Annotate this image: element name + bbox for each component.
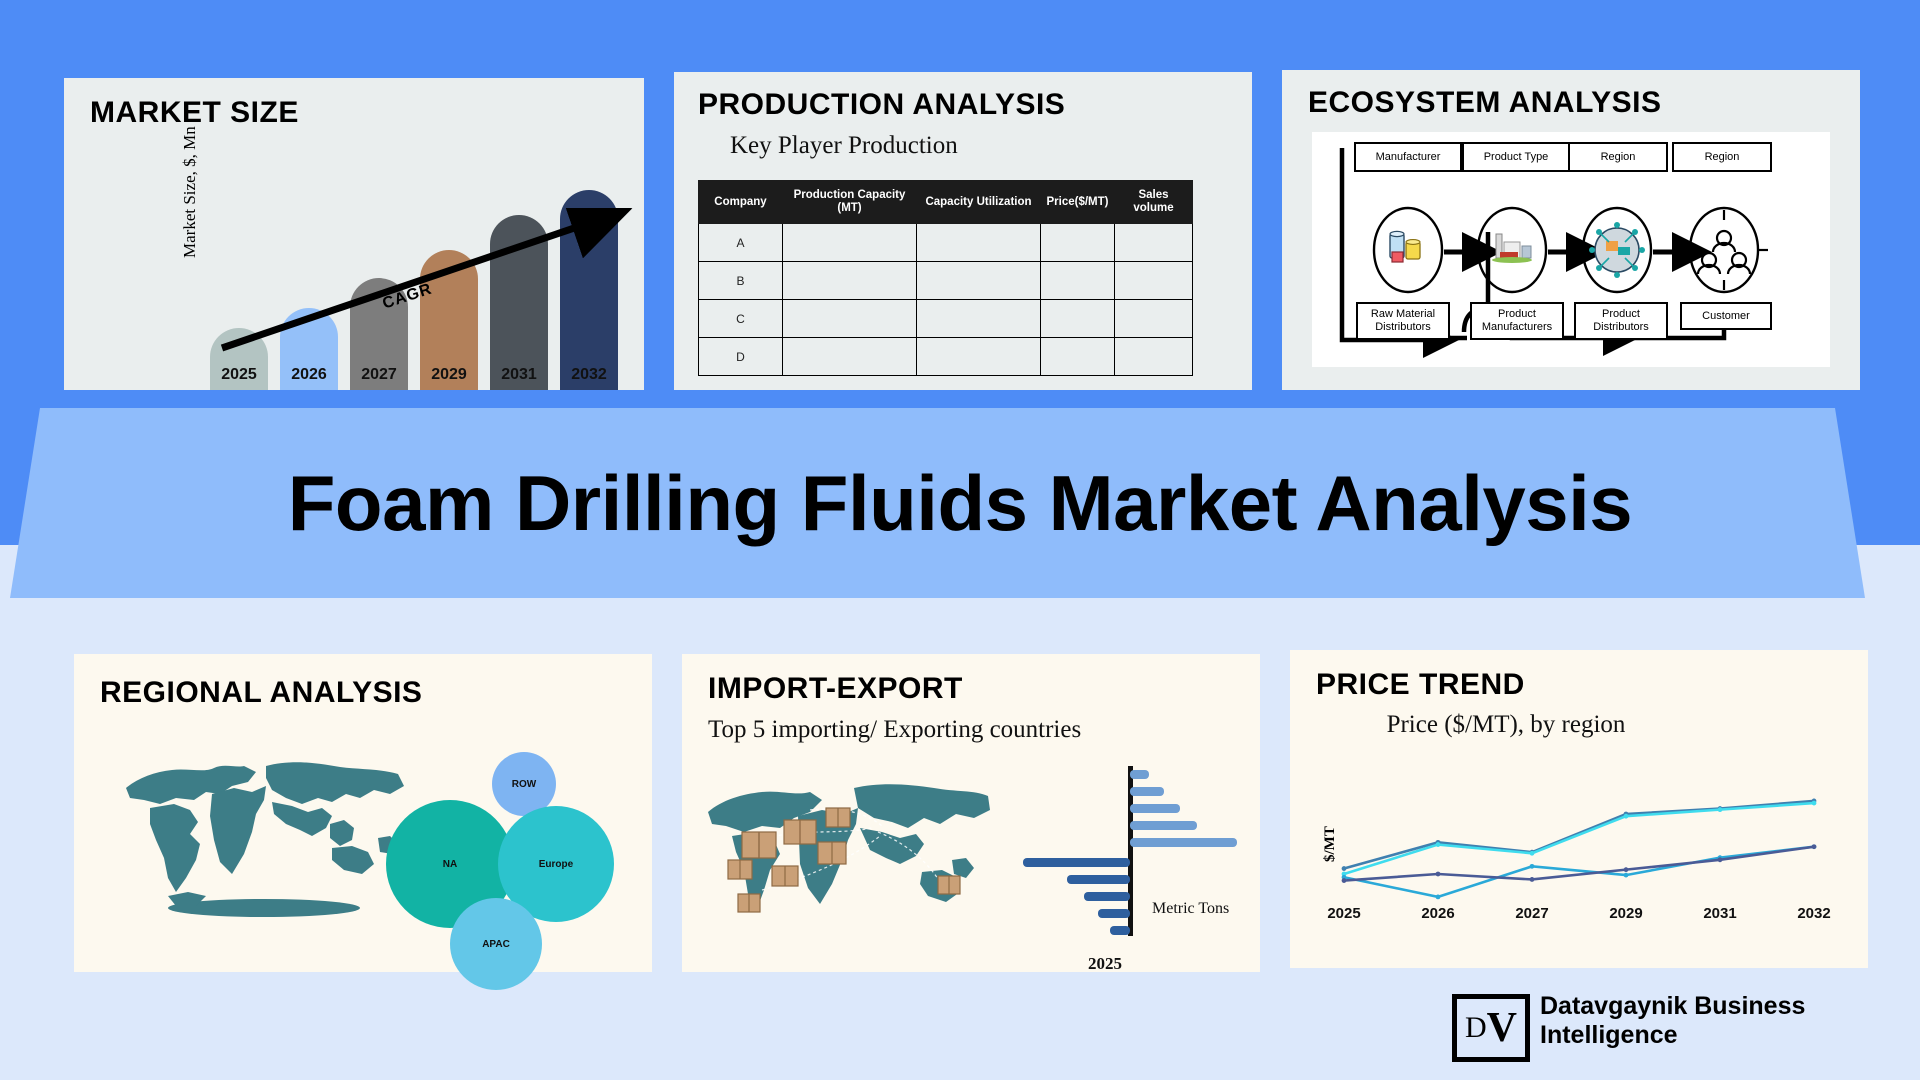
import-bar [1130, 821, 1197, 830]
table-row: A [699, 224, 1193, 262]
market-size-bar: 2026 [280, 308, 338, 390]
price-trend-data-point [1718, 857, 1723, 862]
ecosystem-bottom-box: Customer [1680, 302, 1772, 330]
price-trend-x-tick: 2026 [1421, 905, 1454, 922]
price-trend-data-point [1530, 864, 1535, 869]
bubble-label: ROW [512, 779, 536, 790]
ecosystem-top-box: Region [1568, 142, 1668, 172]
market-size-y-axis-label: Market Size, $, Mn [180, 126, 200, 258]
market-size-bar-label: 2026 [280, 366, 338, 384]
table-cell [783, 338, 917, 376]
price-trend-series-line [1344, 803, 1814, 874]
table-column-header: Sales volume [1115, 181, 1193, 224]
table-row: B [699, 262, 1193, 300]
price-trend-data-point [1530, 877, 1535, 882]
table-cell [783, 262, 917, 300]
bubble-label: Europe [539, 859, 573, 870]
price-trend-data-point [1342, 878, 1347, 883]
market-size-bar-label: 2029 [420, 366, 478, 384]
ecosystem-analysis-card: ECOSYSTEM ANALYSIS [1282, 70, 1860, 390]
market-size-bar: 2025 [210, 328, 268, 390]
price-trend-card: PRICE TREND Price ($/MT), by region $/MT… [1290, 650, 1868, 968]
table-cell: A [699, 224, 783, 262]
table-column-header: Price($/MT) [1041, 181, 1115, 224]
ecosystem-bottom-box: Product Manufacturers [1470, 302, 1564, 340]
ecosystem-top-box: Product Type [1462, 142, 1570, 172]
export-bar [1023, 858, 1130, 867]
market-size-bar: 2029 [420, 250, 478, 390]
price-trend-data-point [1718, 807, 1723, 812]
market-size-title: MARKET SIZE [90, 96, 299, 130]
table-cell [917, 338, 1041, 376]
table-cell [1115, 224, 1193, 262]
price-trend-x-axis-labels: 202520262027202920312032 [1330, 905, 1850, 929]
price-trend-title: PRICE TREND [1316, 668, 1525, 702]
table-cell [1115, 338, 1193, 376]
price-trend-data-point [1530, 851, 1535, 856]
price-trend-x-tick: 2025 [1327, 905, 1360, 922]
price-trend-data-point [1436, 895, 1441, 900]
import-export-subtitle: Top 5 importing/ Exporting countries [708, 716, 1081, 744]
price-trend-x-tick: 2032 [1797, 905, 1830, 922]
market-size-bar-label: 2032 [560, 366, 618, 384]
production-analysis-subtitle: Key Player Production [730, 132, 958, 160]
bubble-label: NA [443, 859, 457, 870]
logo-letter-v: V [1487, 1007, 1517, 1049]
market-size-bar-label: 2031 [490, 366, 548, 384]
market-size-bar-label: 2027 [350, 366, 408, 384]
import-export-title: IMPORT-EXPORT [708, 672, 963, 706]
table-row: C [699, 300, 1193, 338]
table-cell [783, 300, 917, 338]
ecosystem-top-box: Manufacturer [1354, 142, 1462, 172]
table-cell [783, 224, 917, 262]
tornado-unit-label: Metric Tons [1152, 900, 1229, 918]
table-cell [1041, 224, 1115, 262]
table-cell [917, 224, 1041, 262]
logo-letter-d: D [1465, 1013, 1487, 1043]
market-size-card: MARKET SIZE Market Size, $, Mn 202520262… [64, 78, 644, 390]
import-export-card: IMPORT-EXPORT Top 5 importing/ Exporting… [682, 654, 1260, 972]
market-size-bar-label: 2025 [210, 366, 268, 384]
table-column-header: Company [699, 181, 783, 224]
price-trend-data-point [1624, 814, 1629, 819]
tornado-axis-year-label: 2025 [1088, 954, 1122, 974]
regional-analysis-title: REGIONAL ANALYSIS [100, 676, 422, 710]
import-bar [1130, 838, 1237, 847]
price-trend-subtitle: Price ($/MT), by region [1356, 710, 1656, 741]
table-row: D [699, 338, 1193, 376]
table-column-header: Capacity Utilization [917, 181, 1041, 224]
market-size-bar: 2032 [560, 190, 618, 390]
bubble-apac: APAC [450, 898, 542, 990]
ecosystem-flow-diagram: ManufacturerProduct TypeRegionRegionRaw … [1312, 132, 1830, 367]
export-bar [1067, 875, 1130, 884]
logo-company-name: Datavgaynik Business Intelligence [1540, 992, 1870, 1050]
logo-monogram-icon: DV [1452, 994, 1530, 1062]
market-size-bar: 2031 [490, 215, 548, 390]
ecosystem-bottom-box: Product Distributors [1574, 302, 1668, 340]
page-title: Foam Drilling Fluids Market Analysis [0, 408, 1920, 598]
table-cell [1041, 262, 1115, 300]
import-export-tornado-chart [1012, 766, 1242, 956]
export-bar [1084, 892, 1130, 901]
export-bar [1098, 909, 1130, 918]
bubble-label: APAC [482, 939, 510, 950]
table-cell [1115, 300, 1193, 338]
trade-map-icon [702, 766, 992, 946]
ecosystem-top-box: Region [1672, 142, 1772, 172]
price-trend-x-tick: 2027 [1515, 905, 1548, 922]
production-analysis-card: PRODUCTION ANALYSIS Key Player Productio… [674, 72, 1252, 390]
table-cell: D [699, 338, 783, 376]
ecosystem-bottom-box: Raw Material Distributors [1356, 302, 1450, 340]
price-trend-data-point [1342, 866, 1347, 871]
world-map-icon [116, 742, 416, 922]
table-cell [1041, 338, 1115, 376]
price-trend-series-line [1344, 847, 1814, 897]
table-cell: B [699, 262, 783, 300]
table-body: ABCD [699, 224, 1193, 376]
import-bar [1130, 804, 1180, 813]
brand-logo: DV Datavgaynik Business Intelligence [1452, 992, 1872, 1068]
table-cell [917, 262, 1041, 300]
price-trend-data-point [1624, 873, 1629, 878]
table-cell: C [699, 300, 783, 338]
table-cell [1115, 262, 1193, 300]
table-cell [917, 300, 1041, 338]
price-trend-lines [1336, 782, 1836, 910]
key-player-production-table: CompanyProduction Capacity (MT)Capacity … [698, 180, 1193, 376]
price-trend-x-tick: 2029 [1609, 905, 1642, 922]
price-trend-x-tick: 2031 [1703, 905, 1736, 922]
table-column-header: Production Capacity (MT) [783, 181, 917, 224]
price-trend-data-point [1436, 872, 1441, 877]
table-header-row: CompanyProduction Capacity (MT)Capacity … [699, 181, 1193, 224]
export-bar [1110, 926, 1130, 935]
price-trend-data-point [1812, 801, 1817, 806]
price-trend-data-point [1436, 842, 1441, 847]
import-bar [1130, 770, 1149, 779]
import-bar [1130, 787, 1164, 796]
table-cell [1041, 300, 1115, 338]
price-trend-data-point [1624, 867, 1629, 872]
price-trend-data-point [1812, 844, 1817, 849]
production-analysis-title: PRODUCTION ANALYSIS [698, 88, 1065, 122]
ecosystem-analysis-title: ECOSYSTEM ANALYSIS [1308, 86, 1662, 120]
regional-analysis-card: REGIONAL ANALYSIS ROW NA Europe APAC [74, 654, 652, 972]
